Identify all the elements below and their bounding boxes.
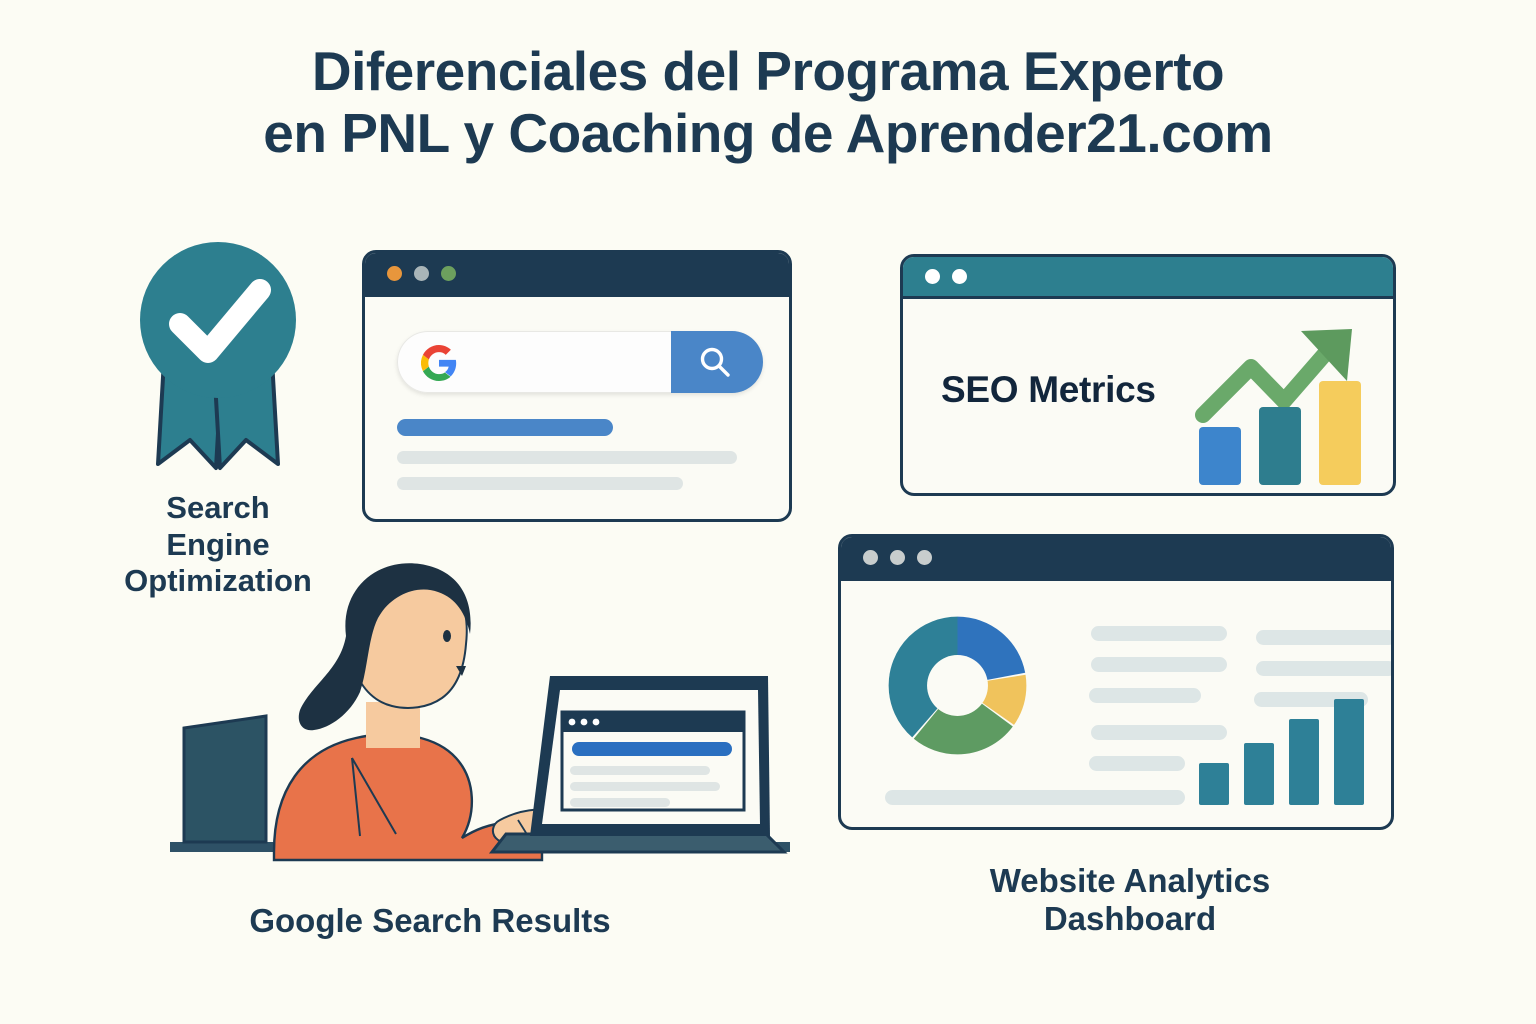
mini-dot xyxy=(569,719,576,726)
dashboard-placeholder-line xyxy=(1256,661,1394,676)
dashboard-caption: Website Analytics Dashboard xyxy=(930,862,1330,939)
window-dot-minimize[interactable] xyxy=(890,550,905,565)
dashboard-bar-2 xyxy=(1244,743,1274,805)
dashboard-caption-line-1: Website Analytics xyxy=(930,862,1330,900)
window-dot-close[interactable] xyxy=(387,266,402,281)
neck xyxy=(366,702,420,748)
laptop-browser-mockup xyxy=(562,712,744,810)
dashboard-bar-chart xyxy=(1199,689,1371,805)
dashboard-placeholder-line xyxy=(1091,657,1227,672)
search-button[interactable] xyxy=(671,331,763,393)
magnifier-icon xyxy=(693,345,741,379)
window-dot-minimize[interactable] xyxy=(952,269,967,284)
woman-at-laptop-illustration xyxy=(170,552,790,882)
seo-badge-label-line-1: Search xyxy=(88,490,348,527)
window-titlebar xyxy=(841,537,1391,581)
search-result-title-bar[interactable] xyxy=(397,419,613,436)
window-dot-minimize[interactable] xyxy=(414,266,429,281)
search-input[interactable] xyxy=(397,331,763,393)
eye xyxy=(443,630,451,642)
seo-metrics-window: SEO Metrics xyxy=(900,254,1396,496)
seo-growth-chart xyxy=(1189,311,1379,491)
dashboard-placeholder-line xyxy=(1256,630,1394,645)
seo-bar-2 xyxy=(1259,407,1301,485)
dashboard-placeholder-line xyxy=(1091,626,1227,641)
infographic-canvas: Diferenciales del Programa Experto en PN… xyxy=(0,0,1536,1024)
search-result-line xyxy=(397,477,683,490)
mini-result-line xyxy=(570,782,720,791)
dashboard-bar-3 xyxy=(1289,719,1319,805)
page-title: Diferenciales del Programa Experto en PN… xyxy=(0,40,1536,164)
seo-badge-block: Search Engine Optimization xyxy=(88,232,348,600)
page-title-line-2: en PNL y Coaching de Aprender21.com xyxy=(0,102,1536,164)
laptop-base xyxy=(492,834,784,852)
donut-chart xyxy=(885,613,1030,758)
mini-dot xyxy=(581,719,588,726)
mini-dot xyxy=(593,719,600,726)
dashboard-placeholder-line xyxy=(885,790,1185,805)
window-dot-close[interactable] xyxy=(863,550,878,565)
chair xyxy=(184,716,266,842)
mini-result-line xyxy=(570,798,670,807)
dashboard-placeholder-line xyxy=(1089,756,1185,771)
trend-arrow-line xyxy=(1203,347,1331,415)
seo-bar-3 xyxy=(1319,381,1361,485)
google-search-window xyxy=(362,250,792,522)
window-dot-close[interactable] xyxy=(925,269,940,284)
dashboard-caption-line-2: Dashboard xyxy=(930,900,1330,938)
analytics-dashboard-window xyxy=(838,534,1394,830)
window-titlebar xyxy=(903,257,1393,299)
dashboard-bar-4 xyxy=(1334,699,1364,805)
window-titlebar xyxy=(365,253,789,297)
seo-bar-1 xyxy=(1199,427,1241,485)
google-g-logo xyxy=(421,345,457,381)
dashboard-placeholder-line xyxy=(1089,688,1201,703)
mini-result-title xyxy=(572,742,732,756)
dashboard-bar-1 xyxy=(1199,763,1229,805)
window-dot-maximize[interactable] xyxy=(441,266,456,281)
page-title-line-1: Diferenciales del Programa Experto xyxy=(0,40,1536,102)
window-dot-maximize[interactable] xyxy=(917,550,932,565)
google-caption: Google Search Results xyxy=(190,902,670,940)
check-badge-icon xyxy=(118,232,318,482)
search-result-line xyxy=(397,451,737,464)
mini-result-line xyxy=(570,766,710,775)
seo-metrics-title: SEO Metrics xyxy=(941,369,1156,411)
